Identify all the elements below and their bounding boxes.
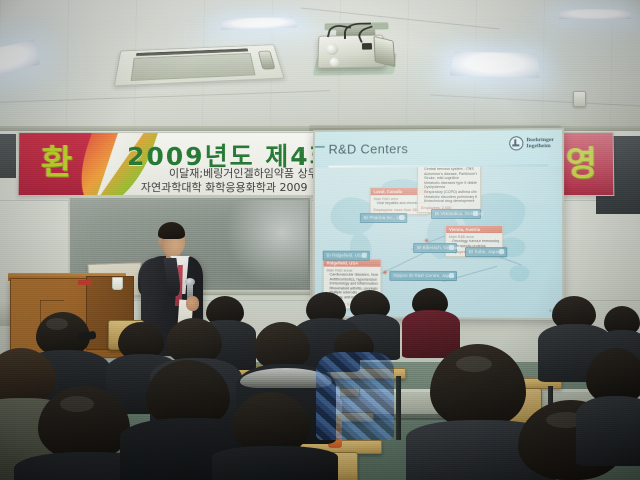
info-box-item: Biotechnical drug development bbox=[424, 199, 477, 204]
presenter-hair bbox=[158, 222, 185, 239]
map-tag: Nippon BI R&D Centre, Japan bbox=[389, 271, 457, 281]
info-box-title: Laval, Canada bbox=[374, 189, 403, 194]
map-tag: BI Kobe, Japan bbox=[465, 247, 507, 257]
bi-logo-text: Boehringer Ingelheim bbox=[526, 137, 553, 149]
red-marker bbox=[78, 280, 92, 285]
lectern-edge bbox=[40, 300, 64, 301]
map-tag: BI Ridgefield, USA bbox=[323, 251, 370, 261]
presenter-hand bbox=[186, 296, 199, 311]
info-box-title: Vienna, Austria bbox=[449, 227, 480, 232]
presenter-ear bbox=[158, 238, 163, 245]
desk-leg bbox=[396, 376, 401, 440]
map-tag: BI Pharma Inc., USA bbox=[360, 213, 407, 223]
map-tag: BI Biberach, Germany bbox=[413, 243, 457, 253]
slide-accent-tick bbox=[315, 146, 325, 148]
fluorescent-light-icon bbox=[559, 9, 632, 19]
paper-cup bbox=[112, 277, 123, 290]
ceiling-projector bbox=[317, 26, 394, 70]
lecture-hall-photo: 환 영 2009년도 제4회 이달재;베링거인겔하임약품 상무, 자연과학대학 … bbox=[0, 0, 640, 480]
ceiling-sensor-icon bbox=[573, 91, 586, 107]
chalkboard-glare bbox=[222, 200, 308, 292]
info-box-title: Ridgefield, USA bbox=[327, 261, 359, 266]
info-box-list: Central nervous system - CNS Alzheimer's… bbox=[418, 167, 480, 206]
map-tag-label: BI Biberach, Germany bbox=[417, 245, 462, 250]
projector-port bbox=[362, 43, 372, 50]
camo-jacket bbox=[316, 352, 394, 440]
fluorescent-light-icon bbox=[450, 51, 540, 78]
microphone-head-icon bbox=[185, 278, 195, 286]
map-tag-label: BI Kobe, Japan bbox=[469, 249, 501, 254]
bi-logo-line2: Ingelheim bbox=[526, 143, 553, 149]
map-tag-label: BI Ridgefield, USA bbox=[327, 253, 364, 258]
slide-title: R&D Centers bbox=[329, 141, 409, 156]
map-pin-icon bbox=[383, 271, 386, 274]
info-box-header: Vienna, Austria bbox=[446, 226, 502, 233]
wall-dark-panel bbox=[0, 134, 16, 178]
map-tag-label: Nippon BI R&D Centre, Japan bbox=[393, 273, 454, 278]
boehringer-ingelheim-logo: Boehringer Ingelheim bbox=[509, 136, 554, 150]
map-pin-icon bbox=[425, 239, 428, 242]
ac-side-panel bbox=[258, 51, 276, 70]
map-tag: BI Vetmedica, Germany bbox=[431, 209, 481, 219]
projector-front bbox=[373, 36, 395, 67]
bi-mark-icon bbox=[509, 136, 523, 150]
ac-grille bbox=[131, 53, 256, 81]
